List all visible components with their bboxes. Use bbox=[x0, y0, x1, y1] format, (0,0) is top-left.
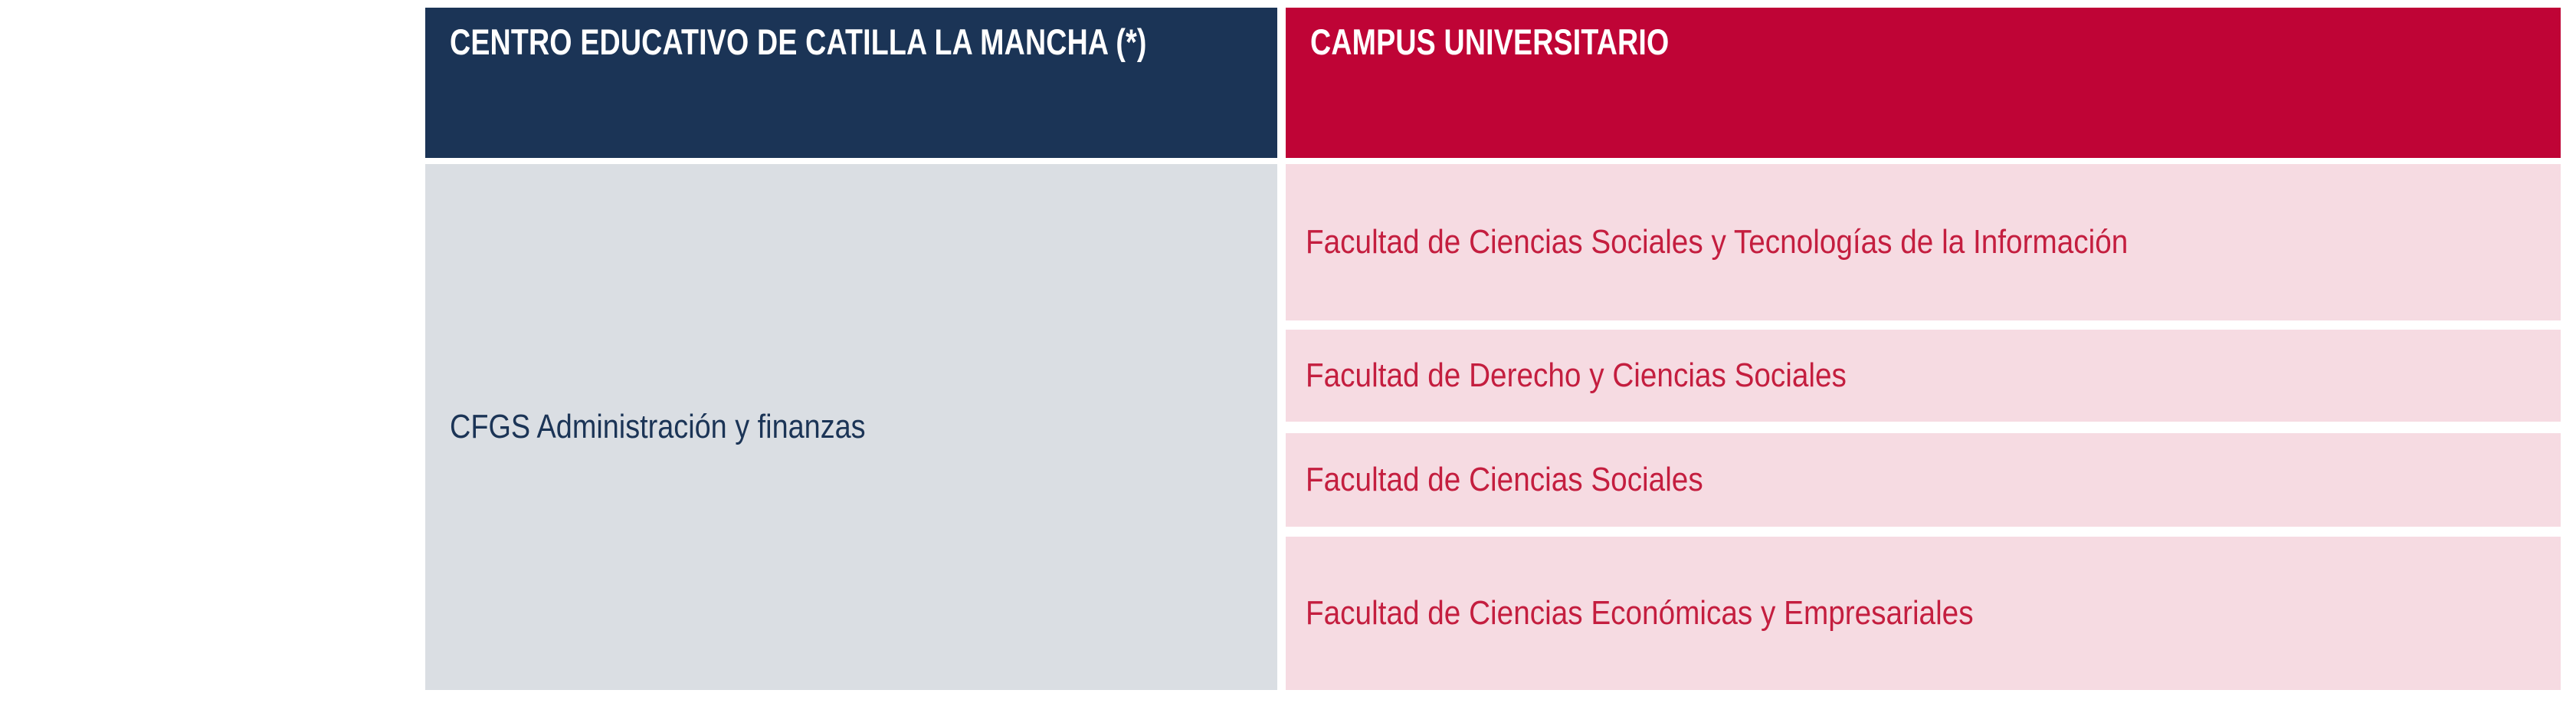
cell-campus-universitario-list: Facultad de Ciencias Sociales y Tecnolog… bbox=[1286, 164, 2561, 690]
list-item: Facultad de Ciencias Sociales y Tecnolog… bbox=[1286, 164, 2561, 320]
table-header-row: CENTRO EDUCATIVO DE CATILLA LA MANCHA (*… bbox=[425, 8, 2561, 158]
list-item: Facultad de Ciencias Sociales bbox=[1286, 433, 2561, 527]
column-header-centro-educativo-label: CENTRO EDUCATIVO DE CATILLA LA MANCHA (*… bbox=[450, 21, 1254, 64]
list-item-label: Facultad de Ciencias Económicas y Empres… bbox=[1306, 591, 2391, 635]
list-item-label: Facultad de Ciencias Sociales y Tecnolog… bbox=[1306, 220, 2391, 264]
cell-centro-educativo: CFGS Administración y finanzas bbox=[425, 164, 1277, 690]
column-header-campus-universitario: CAMPUS UNIVERSITARIO bbox=[1286, 8, 2561, 158]
list-item-label: Facultad de Ciencias Sociales bbox=[1306, 458, 2391, 501]
column-header-campus-universitario-label: CAMPUS UNIVERSITARIO bbox=[1310, 21, 2538, 64]
list-item: Facultad de Ciencias Económicas y Empres… bbox=[1286, 537, 2561, 690]
list-item: Facultad de Derecho y Ciencias Sociales bbox=[1286, 330, 2561, 422]
comparison-table: CENTRO EDUCATIVO DE CATILLA LA MANCHA (*… bbox=[425, 8, 2561, 690]
column-header-centro-educativo: CENTRO EDUCATIVO DE CATILLA LA MANCHA (*… bbox=[425, 8, 1277, 158]
list-item-label: Facultad de Derecho y Ciencias Sociales bbox=[1306, 353, 2391, 397]
cell-centro-educativo-label: CFGS Administración y finanzas bbox=[450, 406, 1142, 448]
table-row: CFGS Administración y finanzas Facultad … bbox=[425, 164, 2561, 690]
